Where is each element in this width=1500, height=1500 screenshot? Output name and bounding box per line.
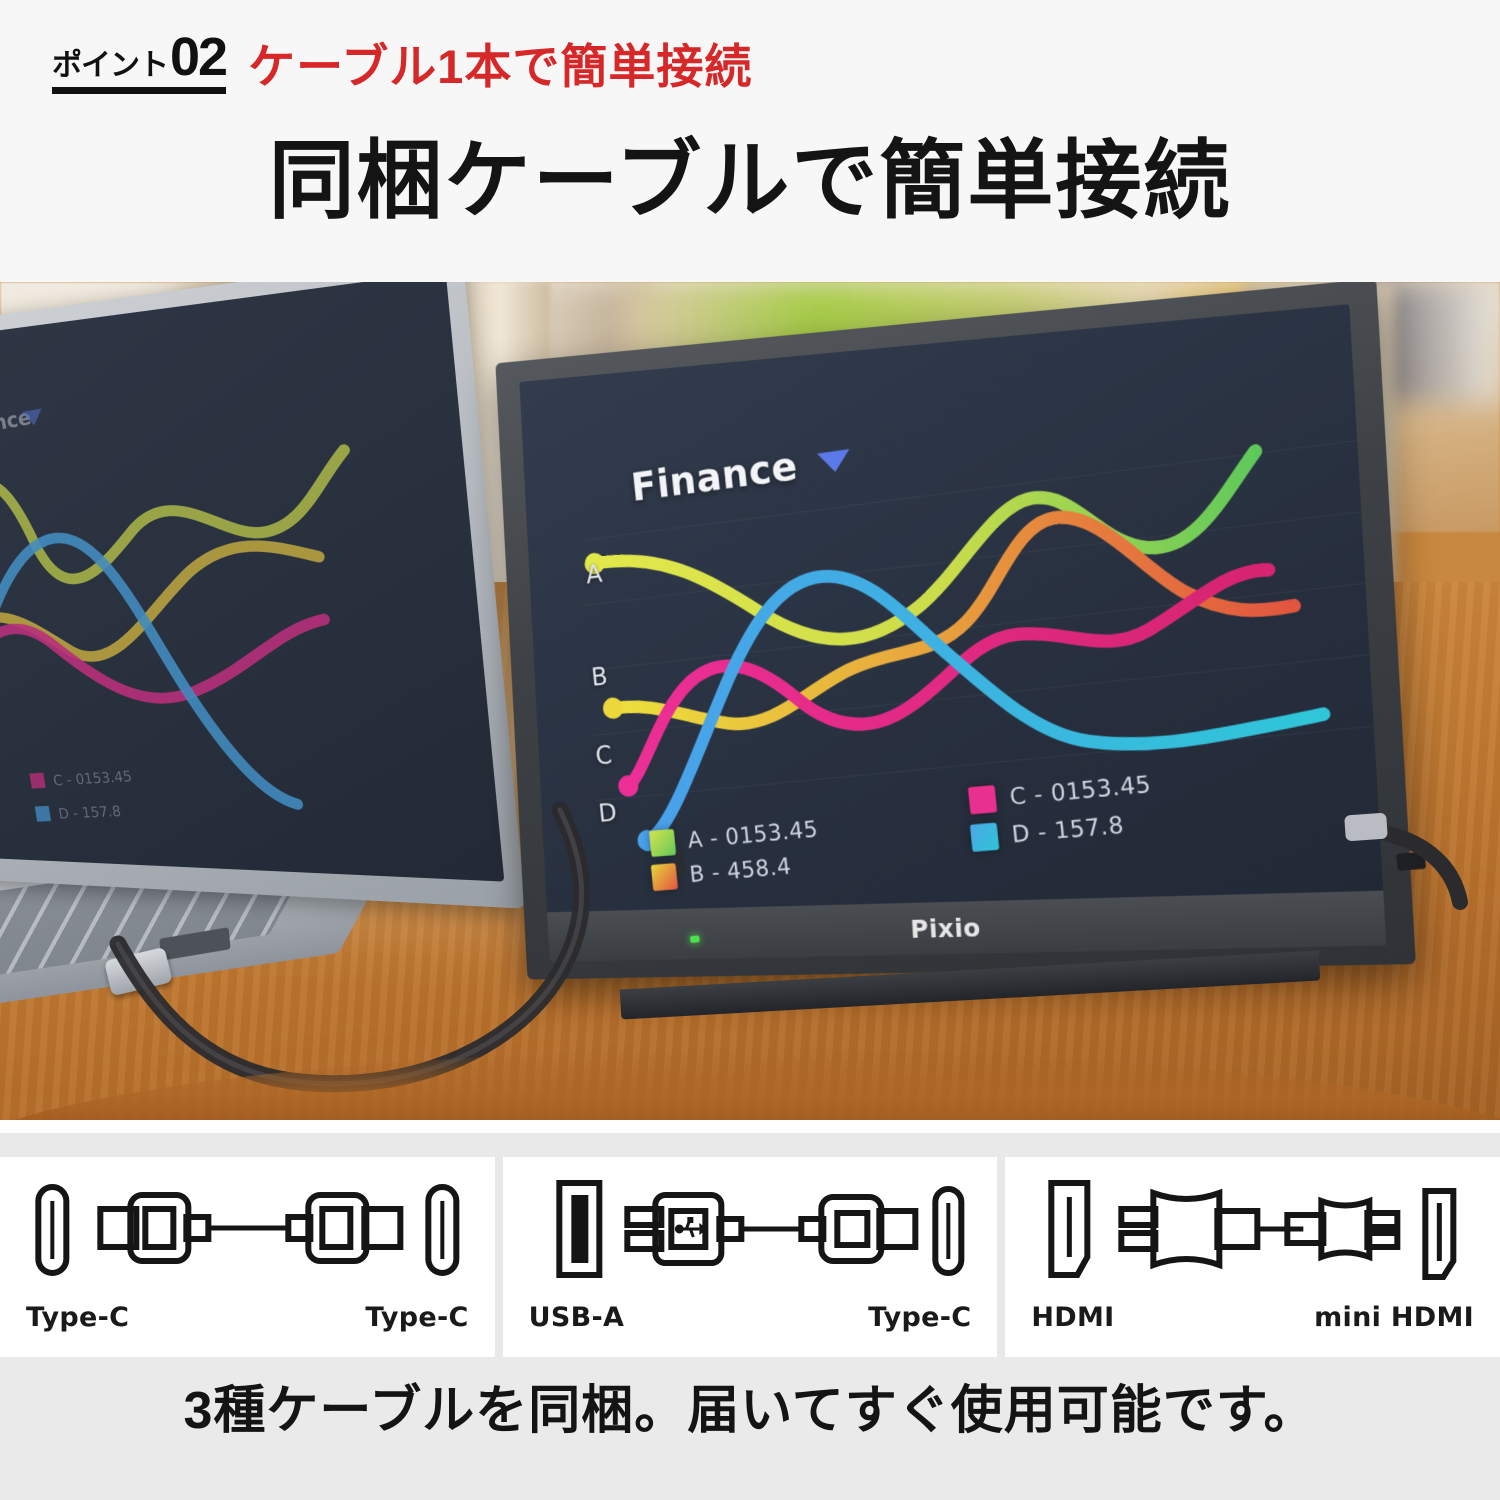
svg-text:C - 0153.45: C - 0153.45: [52, 769, 133, 790]
legend-swatch-a: [649, 829, 676, 857]
panel-1-left-label: Type-C: [26, 1302, 129, 1333]
product-feature-page: ポイント 02 ケーブル1本で簡単接続 同梱ケーブルで簡単接続: [0, 0, 1500, 1500]
svg-text:D - 157.8: D - 157.8: [58, 804, 123, 823]
cable-panel-hdmi-to-mini-hdmi: HDMI mini HDMI: [1005, 1157, 1500, 1357]
point-badge: ポイント 02: [52, 30, 226, 94]
monitor-screen: Finance: [519, 304, 1383, 912]
series-start-label-c: C: [594, 741, 613, 771]
page-title: 同梱ケーブルで簡単接続: [0, 135, 1500, 228]
panel-3-left-label: HDMI: [1031, 1302, 1114, 1333]
page-header: ポイント 02 ケーブル1本で簡単接続 同梱ケーブルで簡単接続: [0, 0, 1500, 282]
point-label: ポイント: [52, 51, 168, 81]
eyebrow-row: ポイント 02 ケーブル1本で簡単接続: [52, 30, 752, 94]
product-photo: Finance C - 0153.45 D - 157.8: [0, 282, 1500, 1133]
laptop-lid: Finance C - 0153.45 D - 157.8: [0, 282, 526, 909]
point-underline: [52, 87, 226, 94]
svg-text:Finance: Finance: [0, 405, 33, 444]
series-start-label-b: B: [590, 662, 609, 692]
finance-line-chart: [519, 304, 1383, 912]
legend-swatch-b: [651, 863, 678, 891]
point-number: 02: [170, 30, 226, 84]
series-start-label-a: A: [585, 560, 604, 591]
laptop: Finance C - 0153.45 D - 157.8: [0, 282, 531, 1000]
series-start-label-d: D: [597, 798, 618, 828]
laptop-chart: Finance C - 0153.45 D - 157.8: [0, 282, 504, 882]
photo-bottom-fade: [0, 1120, 1500, 1133]
portable-monitor: Finance: [480, 322, 1380, 1042]
panel-top-strip: [0, 1133, 1500, 1157]
cable-panel-usb-a-to-type-c: USB-A Type-C: [503, 1157, 998, 1357]
monitor-power-led: [690, 935, 700, 942]
panel-3-right-label: mini HDMI: [1314, 1302, 1474, 1333]
panel-2-left-label: USB-A: [529, 1302, 625, 1333]
eyebrow-subtitle: ケーブル1本で簡単接続: [248, 43, 752, 90]
screen-content: Finance: [519, 304, 1383, 912]
legend-swatch-d: [970, 823, 1000, 852]
laptop-screen: Finance C - 0153.45 D - 157.8: [0, 282, 504, 882]
panel-1-right-label: Type-C: [365, 1302, 468, 1333]
legend-swatch-c: [968, 785, 998, 815]
panel-2-right-label: Type-C: [868, 1302, 971, 1333]
monitor-usb-c-port: [1396, 852, 1426, 871]
monitor-body: Finance: [495, 282, 1416, 980]
cable-panels: Type-C Type-C: [0, 1157, 1500, 1357]
cable-panel-type-c-to-type-c: Type-C Type-C: [0, 1157, 495, 1357]
page-caption: 3種ケーブルを同梱。届いてすぐ使用可能です。: [0, 1368, 1500, 1443]
